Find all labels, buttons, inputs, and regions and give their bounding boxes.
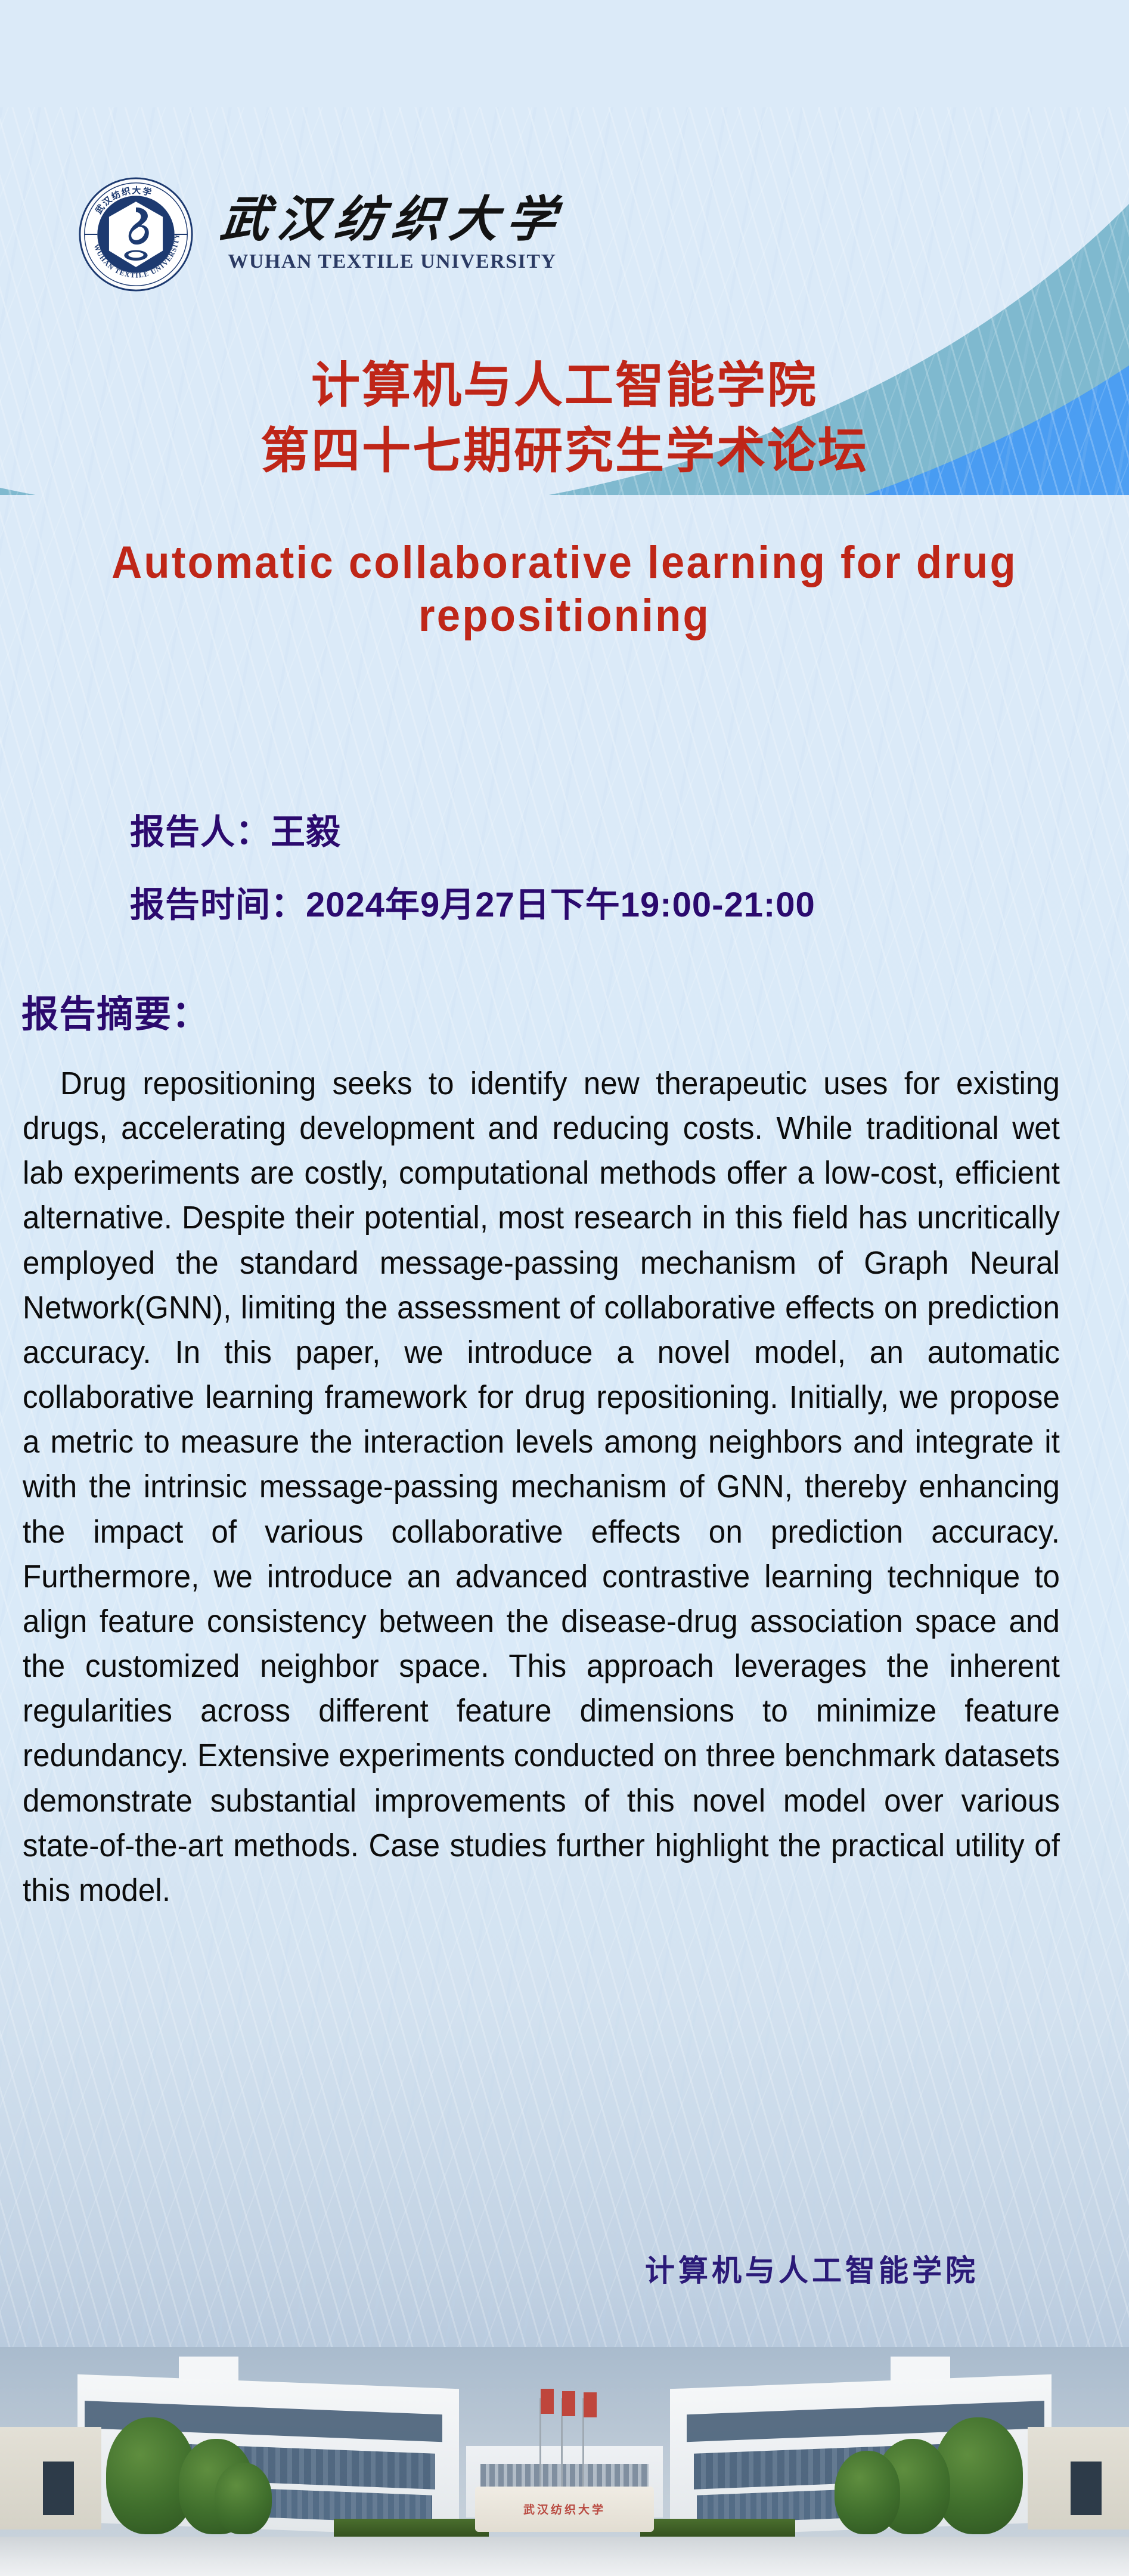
photo-hedge xyxy=(640,2519,795,2537)
photo-side-wall xyxy=(0,2427,101,2529)
time-line: 报告时间：2024年9月27日下午19:00-21:00 xyxy=(130,877,815,927)
flag xyxy=(584,2392,597,2417)
university-name-en: WUHAN TEXTILE UNIVERSITY xyxy=(228,250,556,273)
flag xyxy=(562,2391,575,2416)
university-name-cn: 武汉纺织大学 xyxy=(218,196,567,244)
series-heading-line1: 计算机与人工智能学院 xyxy=(0,352,1129,419)
photo-campus-monument: 武汉纺织大学 xyxy=(475,2487,654,2532)
abstract-body: Drug repositioning seeks to identify new… xyxy=(23,1061,1060,1913)
university-branding: 武汉纺织大学 WUHAN TEXTILE UNIVERSITY 武汉纺织大学 W… xyxy=(77,176,564,293)
university-wordmark: 武汉纺织大学 WUHAN TEXTILE UNIVERSITY xyxy=(221,196,564,273)
flag xyxy=(541,2389,554,2414)
footer-organization: 计算机与人工智能学院 xyxy=(0,2247,1129,2290)
photo-tree xyxy=(215,2463,272,2534)
event-poster: 武汉纺织大学 WUHAN TEXTILE UNIVERSITY 武汉纺织大学 W… xyxy=(0,0,1129,2576)
photo-side-wall xyxy=(1028,2427,1129,2529)
speaker-line: 报告人：王毅 xyxy=(130,804,341,854)
abstract-label: 报告摘要： xyxy=(21,984,209,1038)
photo-rooftop-block xyxy=(891,2357,950,2382)
photo-rooftop-block xyxy=(179,2357,238,2382)
series-heading-line2: 第四十七期研究生学术论坛 xyxy=(0,417,1129,485)
campus-photo: 武汉纺织大学 xyxy=(0,2347,1129,2576)
talk-title-english: Automatic collaborative learning for dru… xyxy=(89,537,1040,643)
monument-inscription: 武汉纺织大学 xyxy=(475,2501,654,2517)
photo-plaza-ground xyxy=(0,2537,1129,2576)
photo-hedge xyxy=(334,2519,489,2537)
university-seal-icon: 武汉纺织大学 WUHAN TEXTILE UNIVERSITY xyxy=(77,176,194,293)
photo-tree xyxy=(835,2451,900,2534)
